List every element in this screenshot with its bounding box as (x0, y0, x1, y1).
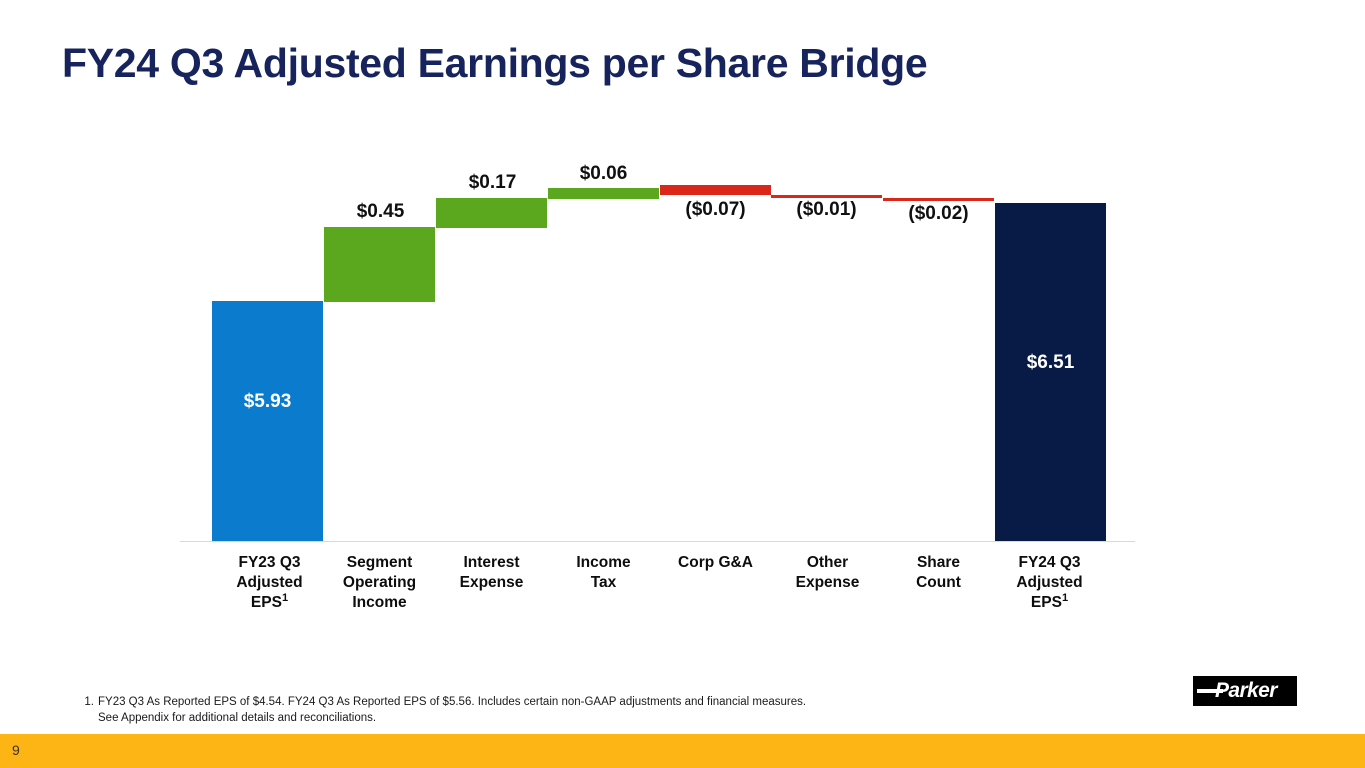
bar-value-label-5: ($0.01) (771, 199, 882, 221)
bottom-bar: 9 (0, 734, 1365, 768)
bar-value-label-4: ($0.07) (660, 199, 771, 221)
bar-decrease-4 (660, 185, 771, 195)
category-label-line: Income (352, 594, 406, 611)
bar-increase-3 (548, 188, 659, 199)
category-label-3: IncomeTax (546, 553, 661, 593)
parker-logo: Parker (1193, 676, 1297, 706)
footnote-body: FY23 Q3 As Reported EPS of $4.54. FY24 Q… (98, 694, 972, 726)
category-label-line: Expense (460, 574, 524, 591)
category-label-line: Interest (464, 554, 520, 571)
category-label-2: InterestExpense (434, 553, 549, 593)
category-label-line: Other (807, 554, 848, 571)
bar-decrease-6 (883, 198, 994, 201)
category-label-line: EPS (251, 594, 282, 611)
bar-value-label-1: $0.45 (325, 201, 436, 223)
bar-value-label-6: ($0.02) (883, 203, 994, 225)
category-label-7: FY24 Q3AdjustedEPS1 (992, 553, 1107, 613)
bar-value-label-3: $0.06 (548, 163, 659, 185)
bar-value-label-2: $0.17 (437, 172, 548, 194)
chart-baseline-axis (180, 541, 1135, 542)
bar-value-label-0: $5.93 (212, 391, 323, 413)
slide-canvas: FY24 Q3 Adjusted Earnings per Share Brid… (0, 0, 1365, 768)
category-label-1: SegmentOperatingIncome (322, 553, 437, 613)
bar-increase-1 (324, 227, 435, 302)
category-label-line: Operating (343, 574, 416, 591)
bar-decrease-5 (771, 195, 882, 198)
page-number: 9 (12, 742, 20, 758)
category-label-line: Corp G&A (678, 554, 753, 571)
bar-increase-2 (436, 198, 547, 228)
category-label-line: Adjusted (236, 574, 302, 591)
category-label-line: FY23 Q3 (238, 554, 300, 571)
category-label-line: Income (576, 554, 630, 571)
footnote: 1. FY23 Q3 As Reported EPS of $4.54. FY2… (72, 694, 972, 726)
footnote-marker: 1 (1062, 592, 1068, 604)
footnote-number: 1. (72, 694, 94, 710)
waterfall-chart: $5.93$0.45$0.17$0.06($0.07)($0.01)($0.02… (0, 0, 1365, 640)
bar-value-label-7: $6.51 (995, 352, 1106, 374)
category-label-line: Tax (591, 574, 617, 591)
category-label-6: ShareCount (881, 553, 996, 593)
category-label-4: Corp G&A (658, 553, 773, 573)
category-label-line: Expense (796, 574, 860, 591)
category-label-line: Adjusted (1016, 574, 1082, 591)
category-label-0: FY23 Q3AdjustedEPS1 (212, 553, 327, 613)
logo-wordmark: Parker (1215, 680, 1277, 701)
footnote-line-2: See Appendix for additional details and … (98, 712, 376, 724)
footnote-line-1: FY23 Q3 As Reported EPS of $4.54. FY24 Q… (98, 696, 806, 708)
category-label-line: Segment (347, 554, 412, 571)
category-label-5: OtherExpense (770, 553, 885, 593)
category-label-line: FY24 Q3 (1018, 554, 1080, 571)
category-label-line: EPS (1031, 594, 1062, 611)
category-label-line: Share (917, 554, 960, 571)
bar-total-0 (212, 301, 323, 541)
footnote-marker: 1 (282, 592, 288, 604)
category-label-line: Count (916, 574, 961, 591)
